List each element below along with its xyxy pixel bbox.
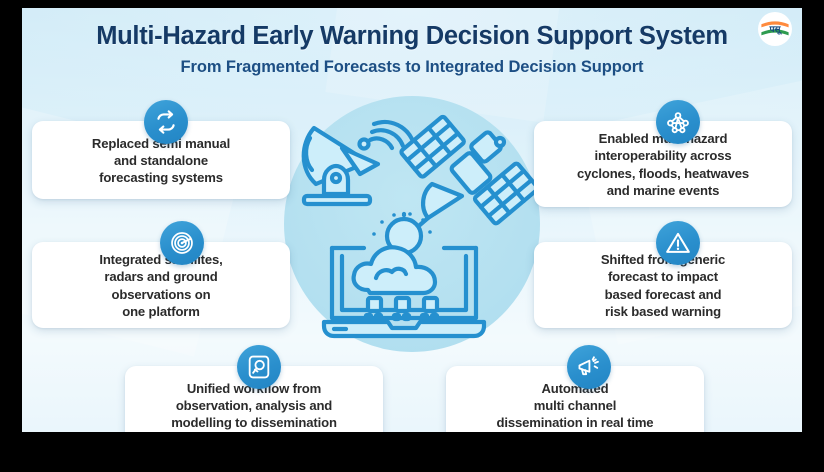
poster-header: Multi-Hazard Early Warning Decision Supp… <box>22 22 802 77</box>
card-text: Automated multi channel dissemination in… <box>497 380 654 431</box>
page-subtitle: From Fragmented Forecasts to Integrated … <box>22 58 802 77</box>
warning-triangle-icon <box>656 221 700 265</box>
satellite-dish-icon <box>304 122 414 204</box>
page-title: Multi-Hazard Early Warning Decision Supp… <box>22 22 802 51</box>
network-nodes-icon <box>656 100 700 144</box>
svg-text:पसू: पसू <box>769 24 783 35</box>
pib-india-logo: पसू <box>758 12 792 46</box>
document-search-icon <box>237 345 281 389</box>
center-illustration <box>284 96 540 352</box>
card-text: Enabled multi hazard interoperability ac… <box>577 130 749 198</box>
card-integrated-observations[interactable]: Integrated satellites, radars and ground… <box>32 242 290 328</box>
sync-arrows-icon <box>144 100 188 144</box>
megaphone-icon <box>567 345 611 389</box>
laptop-weather-cloud-icon <box>324 212 484 336</box>
infographic-poster: Multi-Hazard Early Warning Decision Supp… <box>22 8 802 432</box>
radar-target-icon <box>160 221 204 265</box>
card-text: Shifted from generic forecast to impact … <box>601 251 725 319</box>
satellite-icon <box>400 116 538 230</box>
card-text: Integrated satellites, radars and ground… <box>99 251 222 319</box>
